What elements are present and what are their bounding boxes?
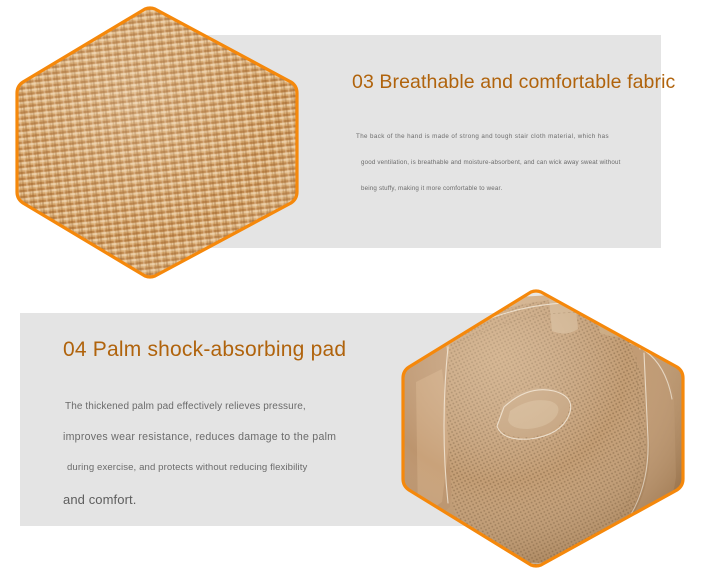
feature-heading-03: 03 Breathable and comfortable fabric	[352, 70, 642, 95]
feature-body-line: good ventilation, is breathable and mois…	[361, 159, 642, 166]
feature-body-line: being stuffy, making it more comfortable…	[361, 185, 642, 192]
feature-heading-04: 04 Palm shock-absorbing pad	[63, 336, 353, 363]
feature-text-04: 04 Palm shock-absorbing pad The thickene…	[63, 336, 353, 526]
fabric-swatch-hexagon-image	[12, 4, 302, 281]
feature-body-03: The back of the hand is made of strong a…	[352, 133, 642, 192]
glove-palm-hexagon-image	[398, 287, 688, 570]
glove-photo-fill	[398, 287, 688, 570]
feature-body-line: The thickened palm pad effectively relie…	[65, 401, 353, 412]
fabric-texture-fill	[12, 4, 302, 281]
feature-body-line: during exercise, and protects without re…	[67, 462, 353, 473]
feature-text-03: 03 Breathable and comfortable fabric The…	[352, 70, 642, 211]
feature-body-line: and comfort.	[63, 492, 353, 507]
product-feature-page: 03 Breathable and comfortable fabric The…	[0, 0, 703, 574]
feature-body-line: improves wear resistance, reduces damage…	[63, 431, 353, 443]
feature-body-line: The back of the hand is made of strong a…	[356, 133, 642, 140]
feature-body-04: The thickened palm pad effectively relie…	[63, 401, 353, 507]
